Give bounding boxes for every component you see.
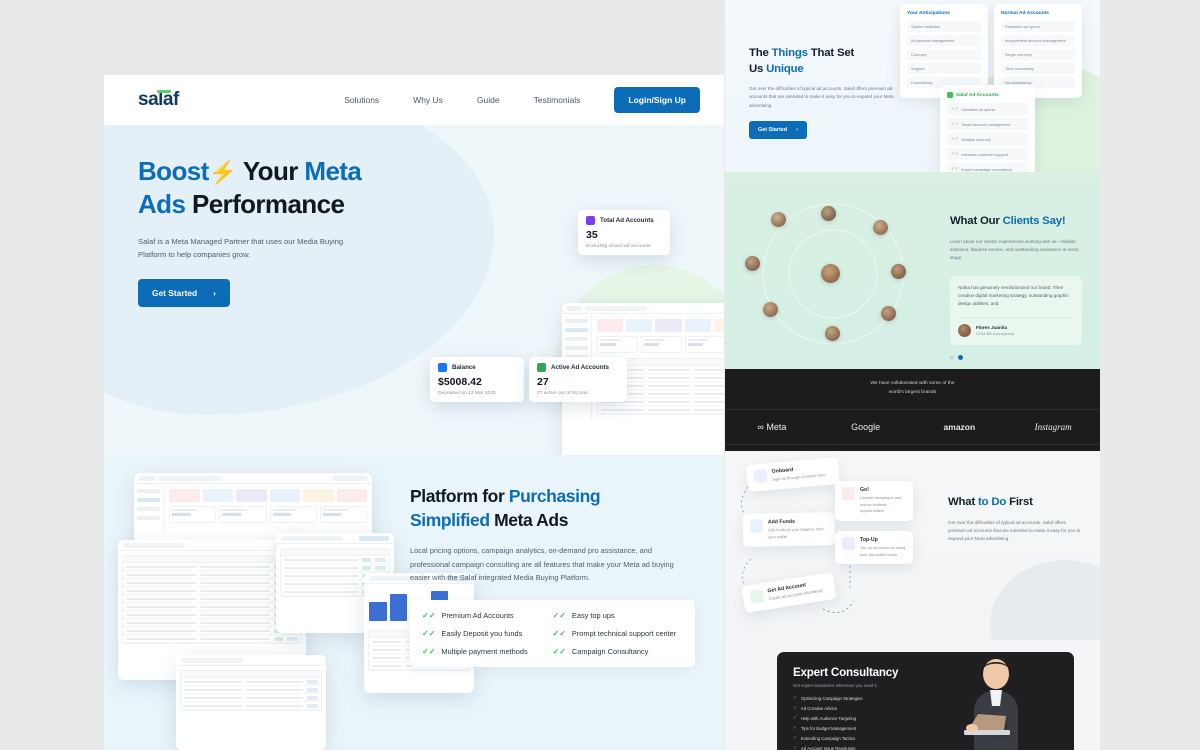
nav-links: Solutions Why Us Guide Testimonials Logi… [344, 87, 700, 113]
feature-label: Multiple payment methods [441, 647, 527, 656]
unique-content: The Things That Set Us Unique Get over t… [749, 46, 899, 139]
platform-title: Platform for Purchasing Simplified Meta … [410, 485, 695, 532]
stat-card-value: $5008.42 [438, 376, 516, 388]
consultancy-item-label: Tips for Budget Management [801, 726, 856, 731]
comparison-row: ✓✓Unlimited ad spend [947, 103, 1028, 115]
stat-card-sub: Excluding closed ad accounts [586, 244, 662, 249]
step-title: Go! [860, 487, 906, 493]
brand-meta: ∞ Meta [725, 422, 819, 432]
rocket-icon [842, 487, 855, 500]
consultancy-item-label: Help with Audience Targeting [801, 716, 856, 721]
feature-label: Easy top ups [572, 611, 615, 620]
stat-card-title: Total Ad Accounts [600, 217, 654, 224]
wallet-icon [750, 519, 763, 532]
stat-card-title: Balance [452, 364, 476, 371]
login-icon [754, 469, 768, 483]
grid-icon [586, 216, 595, 225]
unique-title-part4: Us [749, 63, 766, 75]
unique-title: The Things That Set Us Unique [749, 46, 899, 77]
feature-item: ✓✓Campaign Consultancy [553, 647, 684, 656]
comparison-row: Restricted ad spend [1001, 21, 1075, 32]
step-desc: Launch campaigns and unlock limitless op… [860, 495, 906, 515]
consultancy-item-label: Extending Campaign Tactics [801, 736, 855, 741]
testimonials-content: What Our Clients Say! Learn about our cl… [950, 214, 1082, 360]
steps-title-part3: First [1006, 496, 1033, 508]
comparison-card-expectations: Your Anticipations Speed restriction Ad … [900, 4, 988, 98]
step-card-top-up: Top-Up Top up ad accounts using your dep… [835, 531, 913, 564]
brand-amazon: amazon [913, 422, 1007, 432]
nav-item-guide[interactable]: Guide [477, 95, 500, 105]
avatar [881, 306, 896, 321]
check-icon: ✓✓ [951, 106, 958, 112]
testimonials-title: What Our Clients Say! [950, 214, 1082, 230]
brands-heading: We have collaborated with some of the wo… [725, 380, 1100, 397]
client-network-graphic [733, 194, 933, 354]
testimonial-author-row: Flores Juanita COM BD Ads Agency [958, 317, 1074, 337]
mock-logo [567, 306, 581, 311]
steps-title-part1: What [948, 496, 978, 508]
comparison-row: Inconvenient account management [1001, 35, 1075, 46]
mock-kpi-row [597, 336, 724, 353]
check-icon: ✓✓ [951, 121, 958, 127]
meta-infinity-icon: ∞ [757, 422, 763, 432]
brands-row: ∞ Meta Google amazon Instagram [725, 409, 1100, 445]
feature-label: Campaign Consultancy [572, 647, 648, 656]
feature-label: Prompt technical support center [572, 629, 676, 638]
mock-stat-chip [685, 319, 711, 332]
consultant-photo [948, 658, 1044, 750]
hero-title-part5: Performance [185, 189, 344, 219]
avatar [821, 264, 840, 283]
mock-stat-chip [626, 319, 652, 332]
landing-page-right: The Things That Set Us Unique Get over t… [725, 0, 1100, 750]
mock-stat-chip [714, 319, 724, 332]
comparison-row-label: Smart account management [961, 122, 1010, 127]
unique-title-part1: The [749, 47, 772, 59]
hero-subtitle: Salaf is a Meta Managed Partner that use… [138, 235, 368, 262]
landing-page-left: salaf Solutions Why Us Guide Testimonial… [104, 75, 724, 750]
navbar: salaf Solutions Why Us Guide Testimonial… [104, 75, 724, 125]
stat-card-value: 35 [586, 229, 662, 241]
comparison-row: Ad account management [907, 35, 981, 46]
consultancy-item-label: Ad Creative Advice [801, 706, 837, 711]
step-title: Top-Up [860, 537, 906, 543]
platform-features-right: ✓✓Easy top ups ✓✓Prompt technical suppor… [553, 611, 684, 656]
brand-label: Meta [766, 422, 786, 432]
carousel-dot-2-active[interactable] [958, 355, 963, 360]
feature-item: ✓✓Easy top ups [553, 611, 684, 620]
avatar [891, 264, 906, 279]
testimonials-section: What Our Clients Say! Learn about our cl… [725, 172, 1100, 369]
comparison-card-salaf-accounts: Salaf Ad Accounts ✓✓Unlimited ad spend ✓… [940, 85, 1035, 172]
mock-sidebar-item-active [565, 328, 588, 332]
avatar [873, 220, 888, 235]
unique-title-part3: That Set [808, 47, 854, 59]
hero-content: Boost⚡ Your Meta Ads Performance Salaf i… [104, 125, 404, 307]
steps-content: What to Do First Get over the difficulti… [948, 495, 1082, 544]
step-title: Add Funds [768, 518, 828, 525]
hero-title-part2: Your [237, 156, 305, 186]
mock-sidebar-item [565, 319, 588, 323]
hero-title-part1: Boost [138, 156, 209, 186]
nav-item-testimonials[interactable]: Testimonials [534, 95, 581, 105]
stat-card-value: 27 [537, 376, 619, 388]
steps-title: What to Do First [948, 495, 1082, 511]
step-desc: Add funds to your balance from your wall… [768, 526, 828, 540]
page-canvas: salaf Solutions Why Us Guide Testimonial… [0, 0, 1200, 750]
platform-title-part4: Meta Ads [490, 510, 568, 530]
platform-title-part3: Simplified [410, 510, 490, 530]
chevron-right-icon: › [796, 127, 798, 133]
check-icon: ✓✓ [553, 647, 566, 656]
mock-search-field [585, 306, 647, 311]
testimonials-paragraph: Learn about our clients' experiences wor… [950, 238, 1082, 263]
testimonials-title-part2: Clients Say! [1003, 215, 1066, 227]
nav-item-why-us[interactable]: Why Us [413, 95, 443, 105]
comparison-heading: Your Anticipations [907, 11, 981, 16]
comparison-heading: Normal Ad Accounts [1001, 11, 1075, 16]
brand-google: Google [819, 422, 913, 432]
steps-section: Onboard Sign up through a simple form Ad… [725, 451, 1100, 640]
stat-card-total-ad-accounts: Total Ad Accounts 35 Excluding closed ad… [578, 210, 670, 255]
comparison-row-label: Expert campaign consultancy [961, 167, 1012, 172]
mock-sidebar-item [565, 346, 588, 350]
testimonial-author-role: COM BD Ads Agency [976, 331, 1014, 336]
check-icon: ✓ [793, 725, 797, 731]
unique-get-started-button[interactable]: Get Started › [749, 121, 807, 139]
brand-instagram: Instagram [1006, 422, 1100, 432]
platform-features-left: ✓✓Premium Ad Accounts ✓✓Easily Deposit y… [422, 611, 553, 656]
bolt-icon: ⚡ [209, 159, 237, 185]
avatar [745, 256, 760, 271]
mock-kpi [597, 336, 638, 353]
mock-sidebar-item [565, 337, 588, 341]
mock-stat-chip [597, 319, 623, 332]
testimonial-quote: Nukta has genuinely revolutionized our b… [958, 284, 1074, 309]
consultancy-item-label: Optimizing Campaign Strategies [801, 696, 863, 701]
comparison-row: ✓✓Intensive customer support [947, 148, 1028, 160]
comparison-row: Support [907, 63, 981, 74]
stat-card-active-ad-accounts: Active Ad Accounts 27 27 active out of 3… [529, 357, 627, 402]
comparison-row: Single currency [1001, 49, 1075, 60]
platform-title-part2: Purchasing [509, 486, 600, 506]
ad-account-icon [749, 589, 764, 604]
testimonials-title-part1: What Our [950, 215, 1003, 227]
hero-title-part4: Ads [138, 189, 185, 219]
comparison-row-label: Multiple currency [961, 137, 990, 142]
unique-section: The Things That Set Us Unique Get over t… [725, 0, 1100, 172]
check-icon: ✓✓ [422, 647, 435, 656]
comparison-cards: Your Anticipations Speed restriction Ad … [900, 4, 1085, 98]
check-icon: ✓✓ [951, 166, 958, 172]
step-card-go: Go! Launch campaigns and unlock limitles… [835, 481, 913, 521]
unique-title-part2: Things [772, 47, 808, 59]
platform-title-part1: Platform for [410, 486, 509, 506]
avatar [821, 206, 836, 221]
comparison-row-label: Unlimited ad spend [961, 107, 994, 112]
feature-item: ✓✓Easily Deposit you funds [422, 629, 553, 638]
comparison-row: ✓✓Expert campaign consultancy [947, 163, 1028, 172]
avatar [958, 324, 971, 337]
comparison-row: Currency [907, 49, 981, 60]
check-icon: ✓ [793, 705, 797, 711]
hero-section: Boost⚡ Your Meta Ads Performance Salaf i… [104, 125, 724, 455]
check-icon: ✓ [793, 735, 797, 741]
consultancy-item-label: Ad Account Issue Resolution [801, 746, 856, 750]
steps-title-part2: to Do [978, 496, 1006, 508]
avatar [825, 326, 840, 341]
brands-heading-line1: We have collaborated with some of the [870, 381, 954, 386]
mock-topbar [562, 303, 724, 314]
comparison-row: ✓✓Multiple currency [947, 133, 1028, 145]
feature-item: ✓✓Multiple payment methods [422, 647, 553, 656]
logo[interactable]: salaf [138, 89, 179, 111]
hero-title: Boost⚡ Your Meta Ads Performance [138, 155, 404, 221]
check-icon: ✓✓ [422, 611, 435, 620]
nav-item-solutions[interactable]: Solutions [344, 95, 379, 105]
stat-card-title: Active Ad Accounts [551, 364, 609, 371]
hero-title-part3: Meta [304, 156, 361, 186]
stat-card-sub: 27 active out of 35 total [537, 391, 619, 396]
check-icon: ✓ [793, 715, 797, 721]
stat-card-sub: Deposited on 12 Mar 2025 [438, 391, 516, 396]
brands-heading-line2: world's largest brands [889, 390, 936, 395]
check-square-icon [537, 363, 546, 372]
carousel-dots[interactable] [950, 355, 1082, 360]
hero-cta-label: Get Started [152, 288, 197, 298]
steps-paragraph: Get over the difficulties of typical ad … [948, 519, 1082, 544]
platform-content: Platform for Purchasing Simplified Meta … [410, 485, 695, 667]
comparison-row: Time consuming [1001, 63, 1075, 74]
comparison-row-label: Intensive customer support [961, 152, 1008, 157]
check-square-icon [947, 92, 953, 98]
comparison-pair: Your Anticipations Speed restriction Ad … [900, 4, 1085, 98]
platform-paragraph: Local pricing options, campaign analytic… [410, 544, 688, 584]
logo-green-bar-icon [157, 90, 171, 93]
platform-features-box: ✓✓Premium Ad Accounts ✓✓Easily Deposit y… [410, 600, 695, 667]
comparison-row: Speed restriction [907, 21, 981, 32]
testimonial-card: Nukta has genuinely revolutionized our b… [950, 276, 1082, 345]
check-icon: ✓ [793, 695, 797, 701]
mock-table-row [598, 406, 724, 414]
platform-mockup-group [118, 455, 408, 750]
feature-label: Premium Ad Accounts [441, 611, 513, 620]
feature-label: Easily Deposit you funds [441, 629, 522, 638]
unique-cta-label: Get Started [758, 127, 787, 133]
mock-kpi [685, 336, 725, 353]
feature-item: ✓✓Premium Ad Accounts [422, 611, 553, 620]
unique-paragraph: Get over the difficulties of typical ad … [749, 85, 899, 110]
topup-icon [842, 537, 855, 550]
wallet-icon [438, 363, 447, 372]
check-icon: ✓✓ [951, 136, 958, 142]
testimonial-author-name: Flores Juanita [976, 325, 1014, 330]
hero-get-started-button[interactable]: Get Started › [138, 279, 230, 307]
carousel-dot-1[interactable] [950, 356, 954, 360]
mock-kpi [641, 336, 682, 353]
stat-card-balance: Balance $5008.42 Deposited on 12 Mar 202… [430, 357, 524, 402]
platform-section: Platform for Purchasing Simplified Meta … [104, 455, 724, 750]
mock-stat-row [597, 319, 724, 332]
check-icon: ✓✓ [553, 629, 566, 638]
step-desc: Top up ad accounts using your deposited … [860, 545, 906, 558]
comparison-heading-salaf: Salaf Ad Accounts [947, 92, 1028, 98]
check-icon: ✓✓ [951, 151, 958, 157]
login-signup-button[interactable]: Login/Sign Up [614, 87, 700, 113]
unique-title-part5: Unique [766, 63, 803, 75]
avatar [763, 302, 778, 317]
feature-item: ✓✓Prompt technical support center [553, 629, 684, 638]
check-icon: ✓ [793, 745, 797, 750]
consultancy-section: Expert Consultancy Get expert assistance… [725, 640, 1100, 750]
comparison-heading-label: Salaf Ad Accounts [956, 93, 999, 98]
chevron-right-icon: › [213, 288, 216, 298]
comparison-card-normal-accounts: Normal Ad Accounts Restricted ad spend I… [994, 4, 1082, 98]
avatar [771, 212, 786, 227]
check-icon: ✓✓ [422, 629, 435, 638]
platform-dashboard-mockup-5 [176, 655, 326, 750]
consultancy-card: Expert Consultancy Get expert assistance… [777, 652, 1074, 750]
brands-section: We have collaborated with some of the wo… [725, 369, 1100, 451]
mock-stat-chip [655, 319, 681, 332]
comparison-row: ✓✓Smart account management [947, 118, 1028, 130]
check-icon: ✓✓ [553, 611, 566, 620]
step-card-add-funds: Add Funds Add funds to your balance from… [743, 512, 836, 547]
